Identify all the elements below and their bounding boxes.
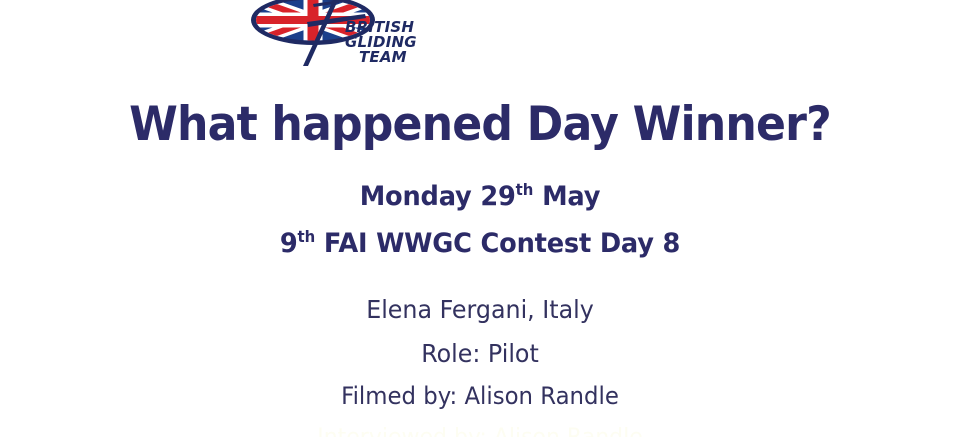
subtitle-date-superscript: th: [516, 180, 534, 199]
title-slide: BRITISH GLIDING TEAM What happened Day W…: [0, 0, 960, 437]
credit-filmed-by: Filmed by: Alison Randle: [24, 381, 936, 412]
cutoff-bottom-line: Interviewed by: Alison Randle: [0, 424, 960, 437]
slide-title: What happened Day Winner?: [29, 98, 931, 152]
subtitle-contest: 9th FAI WWGC Contest Day 8: [24, 227, 936, 261]
logo-graphic: BRITISH GLIDING TEAM: [247, 0, 447, 78]
subtitle-date-prefix: Monday 29: [360, 181, 516, 212]
subtitle-date: Monday 29th May: [24, 180, 936, 214]
subtitle-contest-superscript: th: [297, 227, 315, 246]
subtitle-contest-prefix: 9: [280, 228, 298, 259]
british-gliding-team-logo: BRITISH GLIDING TEAM: [247, 0, 447, 78]
subtitle-contest-suffix: FAI WWGC Contest Day 8: [315, 228, 680, 259]
logo-wordmark-line3: TEAM: [359, 48, 407, 66]
subtitle-date-suffix: May: [533, 181, 600, 212]
logo-wordmark: BRITISH GLIDING TEAM: [345, 18, 417, 66]
credit-role: Role: Pilot: [24, 338, 936, 370]
credit-person: Elena Fergani, Italy: [24, 294, 936, 326]
